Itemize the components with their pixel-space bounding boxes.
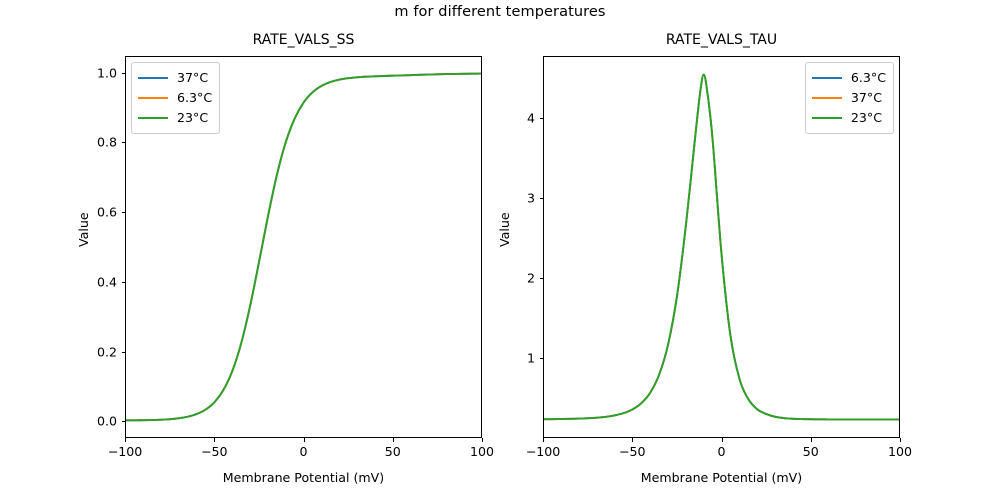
- y-tick-label: 0.8: [77, 135, 117, 150]
- x-tick-label: −100: [526, 444, 561, 459]
- x-tick: [214, 438, 215, 442]
- x-tick: [482, 438, 483, 442]
- legend-label: 23°C: [851, 108, 882, 128]
- y-tick: [122, 212, 126, 213]
- y-tick: [122, 142, 126, 143]
- legend-line-swatch-green: [138, 117, 168, 119]
- legend-entry-37°C[interactable]: 37°C: [138, 68, 212, 88]
- x-tick-label: 0: [299, 444, 307, 459]
- legend-entry-23°C[interactable]: 23°C: [138, 108, 212, 128]
- x-tick: [900, 438, 901, 442]
- x-tick-label: 100: [470, 444, 494, 459]
- y-tick-label: 4: [495, 110, 535, 125]
- x-tick-label: 50: [803, 444, 819, 459]
- y-tick: [540, 358, 544, 359]
- legend-line-swatch-green: [812, 117, 842, 119]
- right-xlabel: Membrane Potential (mV): [543, 470, 900, 485]
- left-legend[interactable]: 37°C6.3°C23°C: [131, 62, 220, 134]
- x-tick-label: −50: [201, 444, 228, 459]
- right-axes-title: RATE_VALS_TAU: [543, 32, 900, 48]
- x-tick: [543, 438, 544, 442]
- legend-label: 37°C: [851, 88, 882, 108]
- right-ylabel: Value: [497, 212, 512, 247]
- y-tick-label: 0.4: [77, 274, 117, 289]
- legend-entry-23°C[interactable]: 23°C: [812, 108, 886, 128]
- legend-line-swatch-orange: [138, 97, 168, 99]
- y-tick: [540, 278, 544, 279]
- legend-line-swatch-orange: [812, 97, 842, 99]
- y-tick: [540, 198, 544, 199]
- y-tick: [122, 352, 126, 353]
- y-tick-label: 3: [495, 190, 535, 205]
- matplotlib-figure: m for different temperatures RATE_VALS_S…: [0, 0, 1000, 500]
- y-tick-label: 0.2: [77, 344, 117, 359]
- y-tick-label: 1.0: [77, 65, 117, 80]
- legend-line-swatch-blue: [812, 77, 842, 79]
- x-tick-label: −50: [619, 444, 646, 459]
- y-tick: [122, 73, 126, 74]
- x-tick-label: 0: [717, 444, 725, 459]
- figure-suptitle: m for different temperatures: [0, 4, 1000, 20]
- legend-entry-6.3°C[interactable]: 6.3°C: [138, 88, 212, 108]
- right-legend[interactable]: 6.3°C37°C23°C: [805, 62, 894, 134]
- legend-label: 6.3°C: [851, 68, 886, 88]
- y-tick-label: 0.0: [77, 414, 117, 429]
- legend-entry-37°C[interactable]: 37°C: [812, 88, 886, 108]
- x-tick: [125, 438, 126, 442]
- x-tick-label: −100: [108, 444, 143, 459]
- legend-label: 6.3°C: [177, 88, 212, 108]
- x-tick: [393, 438, 394, 442]
- left-xlabel: Membrane Potential (mV): [125, 470, 482, 485]
- x-tick: [811, 438, 812, 442]
- y-tick: [540, 118, 544, 119]
- x-tick-label: 100: [888, 444, 912, 459]
- x-tick: [722, 438, 723, 442]
- y-tick: [122, 421, 126, 422]
- legend-entry-6.3°C[interactable]: 6.3°C: [812, 68, 886, 88]
- y-tick: [122, 282, 126, 283]
- x-tick: [304, 438, 305, 442]
- y-tick-label: 1: [495, 350, 535, 365]
- left-axes-title: RATE_VALS_SS: [125, 32, 482, 48]
- legend-line-swatch-blue: [138, 77, 168, 79]
- legend-label: 23°C: [177, 108, 208, 128]
- x-tick: [632, 438, 633, 442]
- legend-label: 37°C: [177, 68, 208, 88]
- x-tick-label: 50: [385, 444, 401, 459]
- left-ylabel: Value: [76, 212, 91, 247]
- y-tick-label: 2: [495, 270, 535, 285]
